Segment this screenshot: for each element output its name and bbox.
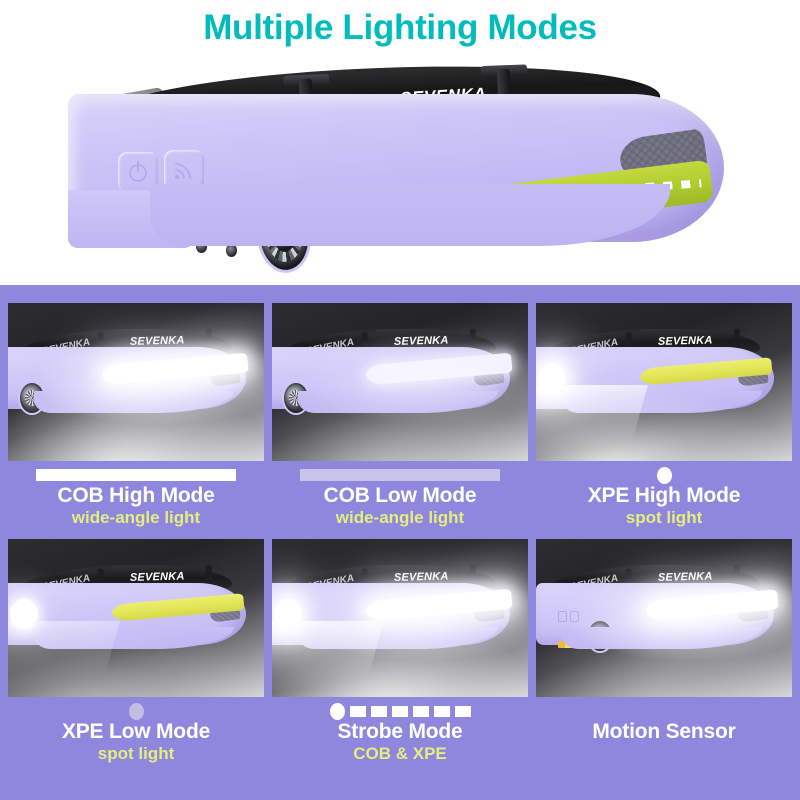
hero-section: Multiple Lighting Modes SEVENKA SEVENKA [0, 0, 800, 285]
xpe-spot-lit-low [10, 599, 38, 629]
mini-housing-lower [298, 391, 498, 413]
xpe-spot-lit [274, 599, 302, 629]
headlamp-illustration: SEVENKA SEVENKA [8, 329, 262, 441]
mode-photo-xpe-high: SEVENKA SEVENKA [536, 303, 792, 461]
mode-caption: COB High Mode wide-angle light [8, 461, 264, 527]
indicator-dot-dim [8, 703, 264, 719]
indicator-bar [300, 469, 500, 481]
mode-photo-strobe: SEVENKA SEVENKA [272, 539, 528, 697]
mini-brand: SEVENKA [658, 571, 713, 584]
mode-subtitle: wide-angle light [8, 508, 264, 528]
power-icon [558, 611, 567, 622]
mode-card-xpe-low[interactable]: SEVENKA SEVENKA [8, 539, 264, 763]
headlamp-illustration: SEVENKA SEVENKA [536, 329, 790, 441]
mini-housing-lower [562, 391, 762, 413]
hero-housing-lower [150, 184, 670, 246]
headlamp-illustration: SEVENKA SEVENKA [272, 565, 526, 677]
mode-caption: Motion Sensor [536, 697, 792, 744]
headlamp-illustration: SEVENKA SEVENKA [272, 329, 526, 441]
mode-title: XPE Low Mode [8, 720, 264, 744]
mode-caption: XPE Low Mode spot light [8, 697, 264, 763]
indicator-none [536, 703, 792, 719]
mode-title: COB High Mode [8, 484, 264, 508]
mini-brand: SEVENKA [658, 334, 713, 347]
headlamp-illustration: SEVENKA SEVENKA [8, 565, 262, 677]
mode-subtitle: spot light [536, 508, 792, 528]
indicator-bar-bright [8, 467, 264, 483]
page-title: Multiple Lighting Modes [0, 8, 800, 48]
indicator-dash [371, 706, 387, 717]
indicator-dash [413, 706, 429, 717]
mode-caption: XPE High Mode spot light [536, 461, 792, 527]
mode-photo-cob-low: SEVENKA SEVENKA [272, 303, 528, 461]
indicator-dash [350, 706, 366, 717]
mini-housing-lower [34, 391, 234, 413]
control-icons-group [558, 611, 579, 622]
mini-brand: SEVENKA [394, 571, 449, 584]
indicator-dot [330, 703, 345, 720]
wave-sensor-icon [570, 611, 579, 622]
mode-subtitle: wide-angle light [272, 508, 528, 528]
mode-title: XPE High Mode [536, 484, 792, 508]
mode-card-cob-low[interactable]: SEVENKA SEVENKA [272, 303, 528, 527]
indicator-dot-bright [536, 467, 792, 483]
hero-product-image: SEVENKA SEVENKA [60, 62, 750, 267]
indicator-bar-dim [272, 467, 528, 483]
mode-card-cob-high[interactable]: SEVENKA SEVENKA [8, 303, 264, 527]
mini-housing-lower [34, 627, 234, 649]
indicator-dot [129, 703, 144, 720]
modes-grid-section: SEVENKA SEVENKA [0, 285, 800, 800]
indicator-dot-and-dashes [272, 703, 528, 719]
indicator-dot [657, 467, 672, 484]
indicator-dash [455, 706, 471, 717]
mode-card-xpe-high[interactable]: SEVENKA SEVENKA [536, 303, 792, 527]
mode-title: Motion Sensor [536, 720, 792, 744]
mode-caption: COB Low Mode wide-angle light [272, 461, 528, 527]
mode-photo-cob-high: SEVENKA SEVENKA [8, 303, 264, 461]
mode-subtitle: COB & XPE [272, 744, 528, 764]
mode-subtitle: spot light [8, 744, 264, 764]
modes-grid: SEVENKA SEVENKA [8, 303, 792, 763]
mini-brand: SEVENKA [130, 571, 185, 584]
mini-brand: SEVENKA [130, 334, 185, 347]
mini-brand: SEVENKA [394, 334, 449, 347]
mode-card-strobe[interactable]: SEVENKA SEVENKA [272, 539, 528, 763]
mode-title: COB Low Mode [272, 484, 528, 508]
indicator-bar [36, 469, 236, 481]
mode-caption: Strobe Mode COB & XPE [272, 697, 528, 763]
indicator-dash [434, 706, 450, 717]
mini-housing-lower [562, 627, 762, 649]
xpe-spot-lit [538, 363, 566, 393]
mini-housing-lower [298, 627, 498, 649]
mode-title: Strobe Mode [272, 720, 528, 744]
mode-photo-motion-sensor: SEVENKA SEVENKA [536, 539, 792, 697]
product-infographic: Multiple Lighting Modes SEVENKA SEVENKA [0, 0, 800, 800]
mode-photo-xpe-low: SEVENKA SEVENKA [8, 539, 264, 697]
indicator-dash [392, 706, 408, 717]
headlamp-illustration: SEVENKA SEVENKA [536, 565, 790, 677]
mode-card-motion-sensor[interactable]: SEVENKA SEVENKA [536, 539, 792, 763]
